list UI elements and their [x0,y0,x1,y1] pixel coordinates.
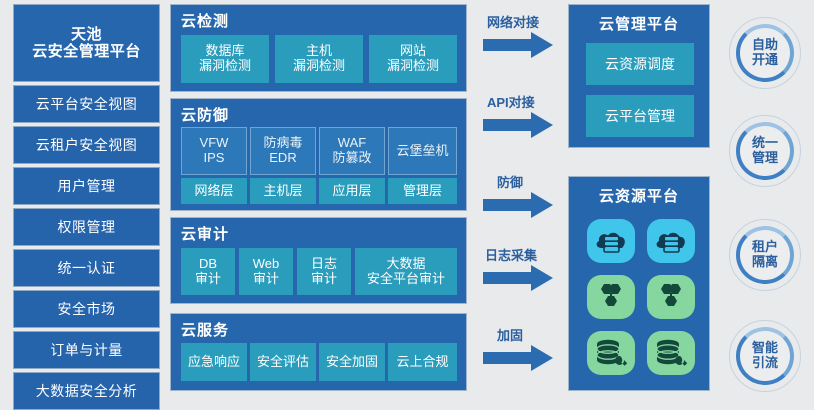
badge-line1: 统一 [752,136,778,151]
badge-text: 自助 开通 [752,38,778,68]
cell-antivirus-edr[interactable]: 防病毒 EDR [250,127,316,175]
cell-cloud-bastion-host[interactable]: 云堡垒机 [388,127,457,175]
cell-line1: 管理层 [403,184,442,199]
sidebar-item-big-data-security-analytics[interactable]: 大数据安全分析 [13,372,160,410]
diagram-canvas: 天池 云安全管理平台 云平台安全视图 云租户安全视图 用户管理 权限管理 统一认… [0,0,814,410]
sidebar-item-label: 安全市场 [58,301,116,317]
badge-ring: 智能 引流 [736,327,794,385]
arrow-right-icon [483,265,555,291]
cell-management-layer[interactable]: 管理层 [388,178,457,204]
cell-label: 云平台管理 [605,108,675,124]
arrow-label: 日志采集 [485,245,537,264]
sidebar-item-label: 权限管理 [58,219,116,235]
panel-cloud-audit: 云审计 DB 审计 Web 审计 日志 审计 大数据 安全平台审计 [170,217,467,304]
badge-unified-management[interactable]: 统一 管理 [729,115,801,187]
panel-cloud-resource-platform: 云资源平台 [568,176,710,391]
database-wrench-icon[interactable] [647,331,695,375]
cell-label: 云资源调度 [605,56,675,72]
cell-line1: 大数据 [367,257,445,272]
badge-ring: 自助 开通 [736,24,794,82]
sidebar: 天池 云安全管理平台 云平台安全视图 云租户安全视图 用户管理 权限管理 统一认… [13,4,160,406]
sidebar-item-permission-management[interactable]: 权限管理 [13,208,160,246]
cell-log-audit[interactable]: 日志 审计 [297,248,351,295]
sidebar-item-label: 订单与计量 [50,342,123,358]
panel-cloud-services: 云服务 应急响应 安全评估 安全加固 云上合规 [170,313,467,391]
panel-cloud-detection: 云检测 数据库 漏洞检测 主机 漏洞检测 网站 漏洞检测 [170,4,467,92]
database-wrench-glyph [594,338,628,368]
cell-cloud-platform-management[interactable]: 云平台管理 [586,95,694,137]
cell-waf-antitamper[interactable]: WAF 防篡改 [319,127,385,175]
cell-line2: 审计 [195,272,221,287]
cell-line1: 数据库 [199,44,251,59]
panel-title: 云审计 [181,223,229,244]
network-nodes-icon[interactable] [647,275,695,319]
cell-line1: WAF [332,136,371,151]
badge-line1: 自助 [752,38,778,53]
cell-line1: Web [253,257,280,272]
sidebar-item-user-management[interactable]: 用户管理 [13,167,160,205]
cloud-server-icon[interactable] [647,219,695,263]
cell-host-vuln-detection[interactable]: 主机 漏洞检测 [275,35,363,83]
cell-bigdata-security-platform-audit[interactable]: 大数据 安全平台审计 [355,248,457,295]
sidebar-item-security-marketplace[interactable]: 安全市场 [13,290,160,328]
cloud-server-glyph [594,227,628,255]
sidebar-item-orders-and-metering[interactable]: 订单与计量 [13,331,160,369]
cell-web-audit[interactable]: Web 审计 [239,248,293,295]
arrow-label: 加固 [497,325,523,344]
cell-line2: 审计 [253,272,280,287]
badge-ring: 租户 隔离 [736,226,794,284]
cell-line2: 审计 [311,272,337,287]
badge-text: 智能 引流 [752,341,778,371]
network-nodes-glyph [595,283,627,311]
panel-cloud-management-platform: 云管理平台 云资源调度 云平台管理 [568,4,710,148]
cell-line2: 漏洞检测 [293,59,345,74]
sidebar-item-cloud-platform-security-view[interactable]: 云平台安全视图 [13,85,160,123]
cell-database-vuln-detection[interactable]: 数据库 漏洞检测 [181,35,269,83]
badge-line2: 引流 [752,356,778,371]
cell-line1: DB [195,257,221,272]
cell-network-layer[interactable]: 网络层 [181,178,247,204]
badge-text: 统一 管理 [752,136,778,166]
badge-line2: 隔离 [752,255,778,270]
panel-cloud-defense: 云防御 VFW IPS 防病毒 EDR WAF 防篡改 云堡垒机 网络 [170,98,467,211]
cell-cloud-resource-scheduling[interactable]: 云资源调度 [586,43,694,85]
sidebar-header-line1: 天池 [32,26,141,43]
cell-application-layer[interactable]: 应用层 [319,178,385,204]
cell-line2: EDR [263,151,302,166]
sidebar-item-label: 大数据安全分析 [36,383,138,399]
cell-vfw-ips[interactable]: VFW IPS [181,127,247,175]
cell-line1: 网站 [387,44,439,59]
sidebar-item-label: 云平台安全视图 [36,96,138,112]
sidebar-header-line2: 云安全管理平台 [32,43,141,60]
cell-line1: 日志 [311,257,337,272]
cell-emergency-response[interactable]: 应急响应 [181,343,247,381]
cell-line1: VFW [200,136,229,151]
network-nodes-glyph [655,283,687,311]
badge-self-service-provisioning[interactable]: 自助 开通 [729,17,801,89]
badge-tenant-isolation[interactable]: 租户 隔离 [729,219,801,291]
cell-line1: 云上合规 [396,355,448,370]
arrow-label: API对接 [487,92,535,111]
sidebar-item-cloud-tenant-security-view[interactable]: 云租户安全视图 [13,126,160,164]
cloud-server-icon[interactable] [587,219,635,263]
badge-ring: 统一 管理 [736,122,794,180]
panel-title: 云防御 [181,104,229,125]
sidebar-item-label: 统一认证 [58,260,116,276]
network-nodes-icon[interactable] [587,275,635,319]
cell-line2: 漏洞检测 [387,59,439,74]
cell-line1: 应用层 [332,184,371,199]
database-wrench-icon[interactable] [587,331,635,375]
badge-line1: 智能 [752,341,778,356]
cell-security-hardening[interactable]: 安全加固 [319,343,385,381]
badge-intelligent-traffic-steering[interactable]: 智能 引流 [729,320,801,392]
cell-line1: 云堡垒机 [396,144,448,159]
cloud-server-glyph [654,227,688,255]
cell-line1: 防病毒 [263,136,302,151]
cell-line2: 漏洞检测 [199,59,251,74]
sidebar-item-label: 用户管理 [58,178,116,194]
panel-title: 云资源平台 [569,185,709,206]
cell-line1: 网络层 [194,184,233,199]
arrow-label: 防御 [497,172,523,191]
sidebar-header: 天池 云安全管理平台 [13,4,160,82]
cell-website-vuln-detection[interactable]: 网站 漏洞检测 [369,35,457,83]
badge-line2: 管理 [752,151,778,166]
panel-title: 云管理平台 [569,13,709,34]
sidebar-item-unified-authentication[interactable]: 统一认证 [13,249,160,287]
cell-db-audit[interactable]: DB 审计 [181,248,235,295]
panel-title: 云服务 [181,319,229,340]
cell-host-layer[interactable]: 主机层 [250,178,316,204]
cell-line1: 主机层 [263,184,302,199]
arrow-right-icon [483,345,555,371]
cell-line2: 防篡改 [332,151,371,166]
panel-title: 云检测 [181,10,229,31]
cell-line1: 应急响应 [188,355,240,370]
database-wrench-glyph [654,338,688,368]
cell-security-assessment[interactable]: 安全评估 [250,343,316,381]
arrow-right-icon [483,192,555,218]
cell-line1: 主机 [293,44,345,59]
cell-line1: 安全加固 [326,355,378,370]
badge-text: 租户 隔离 [752,240,778,270]
cell-cloud-compliance[interactable]: 云上合规 [388,343,457,381]
cell-line2: IPS [200,151,229,166]
arrow-right-icon [483,112,555,138]
arrow-label: 网络对接 [487,12,539,31]
arrow-right-icon [483,32,555,58]
cell-line1: 安全评估 [257,355,309,370]
cell-line2: 安全平台审计 [367,272,445,287]
badge-line2: 开通 [752,53,778,68]
badge-line1: 租户 [752,240,778,255]
sidebar-item-label: 云租户安全视图 [36,137,138,153]
